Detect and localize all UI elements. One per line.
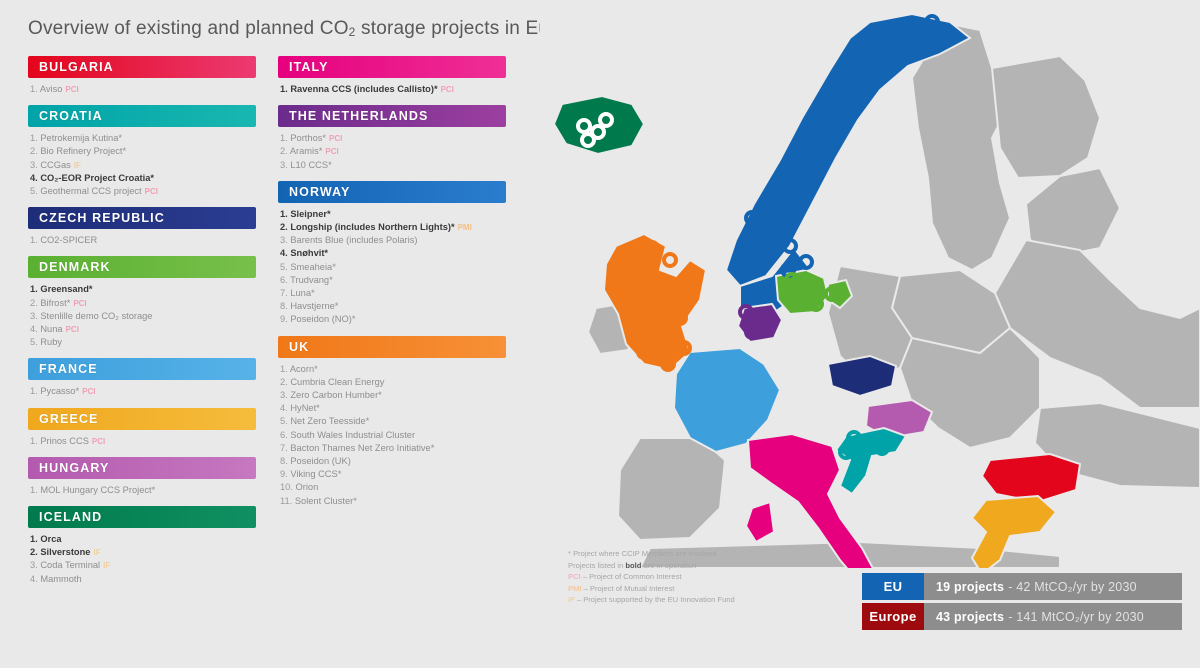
project-number: 2. xyxy=(280,377,290,387)
project-number: 2. xyxy=(30,146,40,156)
project-label: Geothermal CCS project xyxy=(40,186,141,196)
project-number: 1. xyxy=(30,84,40,94)
project-item[interactable]: 4. HyNet* xyxy=(280,402,506,415)
project-number: 2. xyxy=(30,298,40,308)
legend-line-pci: PCI – Project of Common Interest xyxy=(568,571,735,583)
country-header-norway[interactable]: NORWAY xyxy=(278,181,506,203)
project-number: 9. xyxy=(280,469,290,479)
project-number: 7. xyxy=(280,443,290,453)
project-item[interactable]: 1. Acorn* xyxy=(280,363,506,376)
project-item[interactable]: 6. Trudvang* xyxy=(280,274,506,287)
project-label: Trudvang* xyxy=(290,275,333,285)
project-number: 1. xyxy=(30,235,40,245)
project-item[interactable]: 1. Petrokemija Kutina* xyxy=(30,132,256,145)
project-label: Orion xyxy=(296,482,319,492)
country-name-label: ITALY xyxy=(289,60,329,74)
project-label: Solent Cluster* xyxy=(295,496,357,506)
project-item[interactable]: 1. Sleipner* xyxy=(280,208,506,221)
legend-bold-pre: Projects listed in xyxy=(568,561,625,570)
country-name-label: NORWAY xyxy=(289,185,350,199)
project-item[interactable]: 9. Viking CCS* xyxy=(280,468,506,481)
project-label: Barents Blue (includes Polaris) xyxy=(290,235,417,245)
country-block-hungary: HUNGARY1. MOL Hungary CCS Project* xyxy=(28,457,256,497)
stat-key-label: Europe xyxy=(862,603,924,630)
project-tag-if: IF xyxy=(74,161,81,170)
project-tag-if: IF xyxy=(93,548,100,557)
country-header-uk[interactable]: UK xyxy=(278,336,506,358)
project-item[interactable]: 2. Aramis*PCI xyxy=(280,145,506,158)
project-label: Ruby xyxy=(40,337,62,347)
project-number: 2. xyxy=(280,146,290,156)
project-tag-pci: PCI xyxy=(65,85,78,94)
page-title-subscript: 2 xyxy=(349,25,356,39)
project-label: Poseidon (UK) xyxy=(290,456,350,466)
project-item[interactable]: 8. Havstjerne* xyxy=(280,300,506,313)
legend-line-if: IF – Project supported by the EU Innovat… xyxy=(568,594,735,606)
project-list-hungary: 1. MOL Hungary CCS Project* xyxy=(28,484,256,497)
country-block-greece: GREECE1. Prinos CCSPCI xyxy=(28,408,256,448)
stat-detail: - 42 MtCO₂/yr by 2030 xyxy=(1008,580,1137,594)
project-list-iceland: 1. Orca2. SilverstoneIF3. Coda TerminalI… xyxy=(28,533,256,586)
project-item[interactable]: 10. Orion xyxy=(280,481,506,494)
project-item[interactable]: 3. Zero Carbon Humber* xyxy=(280,389,506,402)
project-number: 7. xyxy=(280,288,290,298)
project-number: 6. xyxy=(280,430,290,440)
project-number: 9. xyxy=(280,314,290,324)
project-item[interactable]: 2. Bio Refinery Project* xyxy=(30,145,256,158)
project-tag-pci: PCI xyxy=(92,437,105,446)
page-title-main: Overview of existing and planned CO xyxy=(28,18,349,39)
legend-line-members: * Project where CCIP Members are involve… xyxy=(568,548,735,560)
project-label: Petrokemija Kutina* xyxy=(40,133,122,143)
stat-row-eu: EU19 projects - 42 MtCO₂/yr by 2030 xyxy=(862,573,1182,600)
project-item[interactable]: 1. Porthos*PCI xyxy=(280,132,506,145)
project-item[interactable]: 4. Snøhvit* xyxy=(280,247,506,260)
country-name-label: DENMARK xyxy=(39,260,111,274)
project-list-the-netherlands: 1. Porthos*PCI2. Aramis*PCI3. L10 CCS* xyxy=(278,132,506,172)
project-number: 3. xyxy=(280,390,290,400)
country-column-left: BULGARIA1. AvisoPCICROATIA1. Petrokemija… xyxy=(28,56,256,595)
project-number: 1. xyxy=(30,133,40,143)
project-tag-if: IF xyxy=(103,561,110,570)
project-item[interactable]: 3. CCGasIF xyxy=(30,159,256,172)
project-item[interactable]: 5. Geothermal CCS projectPCI xyxy=(30,185,256,198)
country-block-uk: UK1. Acorn*2. Cumbria Clean Energy3. Zer… xyxy=(278,336,506,508)
project-item[interactable]: 7. Bacton Thames Net Zero Initiative* xyxy=(280,442,506,455)
project-item[interactable]: 5. Ruby xyxy=(30,336,256,349)
project-number: 5. xyxy=(280,416,290,426)
stat-value: 19 projects - 42 MtCO₂/yr by 2030 xyxy=(924,573,1182,600)
project-number: 1. xyxy=(30,284,40,294)
country-header-france[interactable]: FRANCE xyxy=(28,358,256,380)
project-label: Net Zero Teesside* xyxy=(290,416,369,426)
project-number: 5. xyxy=(30,186,40,196)
legend-key-pci: PCI xyxy=(568,572,581,581)
project-item[interactable]: 4. Mammoth xyxy=(30,573,256,586)
legend-key-if: IF xyxy=(568,595,575,604)
project-number: 4. xyxy=(280,248,290,258)
project-item[interactable]: 2. Bifrost*PCI xyxy=(30,297,256,310)
project-item[interactable]: 1. Orca xyxy=(30,533,256,546)
project-label: MOL Hungary CCS Project* xyxy=(40,485,155,495)
stat-row-europe: Europe43 projects - 141 MtCO₂/yr by 2030 xyxy=(862,603,1182,630)
country-block-norway: NORWAY1. Sleipner*2. Longship (includes … xyxy=(278,181,506,327)
legend-text-pmi: – Project of Mutual Interest xyxy=(582,584,675,593)
europe-map[interactable] xyxy=(540,8,1200,568)
project-label: Orca xyxy=(40,534,61,544)
infographic-page: Overview of existing and planned CO2 sto… xyxy=(0,0,1200,668)
stat-count: 43 projects xyxy=(936,610,1004,624)
project-number: 1. xyxy=(30,386,40,396)
project-number: 3. xyxy=(30,560,40,570)
summary-stats: EU19 projects - 42 MtCO₂/yr by 2030Europ… xyxy=(862,573,1182,633)
project-number: 5. xyxy=(30,337,40,347)
project-list-croatia: 1. Petrokemija Kutina*2. Bio Refinery Pr… xyxy=(28,132,256,198)
project-label: Coda Terminal xyxy=(40,560,100,570)
project-item[interactable]: 3. Stenlille demo CO₂ storage xyxy=(30,310,256,323)
legend-line-bold: Projects listed in bold are in operation xyxy=(568,560,735,572)
country-block-italy: ITALY1. Ravenna CCS (includes Callisto)*… xyxy=(278,56,506,96)
project-label: Silverstone xyxy=(40,547,90,557)
stat-value: 43 projects - 141 MtCO₂/yr by 2030 xyxy=(924,603,1182,630)
project-label: Sleipner* xyxy=(290,209,330,219)
project-label: Porthos* xyxy=(290,133,326,143)
project-item[interactable]: 8. Poseidon (UK) xyxy=(280,455,506,468)
project-item[interactable]: 3. L10 CCS* xyxy=(280,159,506,172)
project-number: 6. xyxy=(280,275,290,285)
project-list-uk: 1. Acorn*2. Cumbria Clean Energy3. Zero … xyxy=(278,363,506,508)
country-column-middle: ITALY1. Ravenna CCS (includes Callisto)*… xyxy=(278,56,506,517)
project-label: Bifrost* xyxy=(40,298,70,308)
project-item[interactable]: 7. Luna* xyxy=(280,287,506,300)
project-label: Prinos CCS xyxy=(40,436,89,446)
page-title: Overview of existing and planned CO2 sto… xyxy=(28,18,588,40)
legend-line-pmi: PMI – Project of Mutual Interest xyxy=(568,583,735,595)
legend-bold-post: are in operation xyxy=(641,561,696,570)
project-number: 1. xyxy=(280,209,290,219)
country-block-bulgaria: BULGARIA1. AvisoPCI xyxy=(28,56,256,96)
project-label: Nuna xyxy=(40,324,62,334)
project-item[interactable]: 1. Prinos CCSPCI xyxy=(30,435,256,448)
project-label: Luna* xyxy=(290,288,314,298)
project-list-bulgaria: 1. AvisoPCI xyxy=(28,83,256,96)
country-header-czech-republic[interactable]: CZECH REPUBLIC xyxy=(28,207,256,229)
country-header-bulgaria[interactable]: BULGARIA xyxy=(28,56,256,78)
project-label: Ravenna CCS (includes Callisto)* xyxy=(290,84,437,94)
project-list-france: 1. Pycasso*PCI xyxy=(28,385,256,398)
project-label: Stenlille demo CO₂ storage xyxy=(40,311,152,321)
stat-key-label: EU xyxy=(862,573,924,600)
project-item[interactable]: 11. Solent Cluster* xyxy=(280,495,506,508)
country-name-label: HUNGARY xyxy=(39,461,109,475)
country-block-czech-republic: CZECH REPUBLIC1. CO2-SPICER xyxy=(28,207,256,247)
project-label: CCGas xyxy=(40,160,70,170)
country-block-denmark: DENMARK1. Greensand*2. Bifrost*PCI3. Ste… xyxy=(28,256,256,349)
project-label: CO₂-EOR Project Croatia* xyxy=(40,173,154,183)
country-name-label: FRANCE xyxy=(39,362,98,376)
project-tag-pci: PCI xyxy=(145,187,158,196)
country-name-label: THE NETHERLANDS xyxy=(289,109,428,123)
project-item[interactable]: 1. AvisoPCI xyxy=(30,83,256,96)
project-label: Aviso xyxy=(40,84,63,94)
project-item[interactable]: 4. NunaPCI xyxy=(30,323,256,336)
project-label: South Wales Industrial Cluster xyxy=(290,430,415,440)
country-header-the-netherlands[interactable]: THE NETHERLANDS xyxy=(278,105,506,127)
project-number: 4. xyxy=(30,173,40,183)
country-block-france: FRANCE1. Pycasso*PCI xyxy=(28,358,256,398)
project-number: 1. xyxy=(280,133,290,143)
legend-text-pci: – Project of Common Interest xyxy=(581,572,682,581)
project-item[interactable]: 3. Barents Blue (includes Polaris) xyxy=(280,234,506,247)
project-number: 1. xyxy=(30,485,40,495)
project-list-norway: 1. Sleipner*2. Longship (includes Northe… xyxy=(278,208,506,327)
country-name-label: ICELAND xyxy=(39,510,102,524)
project-label: Aramis* xyxy=(290,146,323,156)
project-item[interactable]: 5. Smeaheia* xyxy=(280,261,506,274)
project-item[interactable]: 1. Pycasso*PCI xyxy=(30,385,256,398)
project-number: 4. xyxy=(30,574,40,584)
project-item[interactable]: 3. Coda TerminalIF xyxy=(30,559,256,572)
country-header-iceland[interactable]: ICELAND xyxy=(28,506,256,528)
project-label: Havstjerne* xyxy=(290,301,338,311)
project-item[interactable]: 5. Net Zero Teesside* xyxy=(280,415,506,428)
country-block-iceland: ICELAND1. Orca2. SilverstoneIF3. Coda Te… xyxy=(28,506,256,586)
project-number: 8. xyxy=(280,456,290,466)
project-item[interactable]: 1. CO2-SPICER xyxy=(30,234,256,247)
project-number: 2. xyxy=(30,547,40,557)
project-number: 1. xyxy=(280,364,290,374)
stat-count: 19 projects xyxy=(936,580,1004,594)
project-tag-pci: PCI xyxy=(441,85,454,94)
project-tag-pci: PCI xyxy=(82,387,95,396)
project-number: 4. xyxy=(280,403,290,413)
project-label: Pycasso* xyxy=(40,386,79,396)
project-number: 11. xyxy=(280,496,295,506)
country-header-italy[interactable]: ITALY xyxy=(278,56,506,78)
project-list-denmark: 1. Greensand*2. Bifrost*PCI3. Stenlille … xyxy=(28,283,256,349)
project-label: Viking CCS* xyxy=(290,469,341,479)
project-item[interactable]: 9. Poseidon (NO)* xyxy=(280,313,506,326)
project-item[interactable]: 1. Greensand* xyxy=(30,283,256,296)
project-number: 3. xyxy=(280,160,290,170)
project-number: 1. xyxy=(30,436,40,446)
project-item[interactable]: 6. South Wales Industrial Cluster xyxy=(280,429,506,442)
project-tag-pmi: PMI xyxy=(458,223,472,232)
map-svg xyxy=(540,8,1200,568)
country-name-label: GREECE xyxy=(39,412,98,426)
project-item[interactable]: 2. Longship (includes Northern Lights)*P… xyxy=(280,221,506,234)
project-label: HyNet* xyxy=(290,403,319,413)
project-label: Poseidon (NO)* xyxy=(290,314,355,324)
country-header-denmark[interactable]: DENMARK xyxy=(28,256,256,278)
project-label: Mammoth xyxy=(40,574,81,584)
project-label: Bio Refinery Project* xyxy=(40,146,126,156)
country-header-greece[interactable]: GREECE xyxy=(28,408,256,430)
project-list-greece: 1. Prinos CCSPCI xyxy=(28,435,256,448)
legend-bold-word: bold xyxy=(625,561,641,570)
map-legend: * Project where CCIP Members are involve… xyxy=(568,548,735,606)
project-label: Snøhvit* xyxy=(290,248,328,258)
project-tag-pci: PCI xyxy=(66,325,79,334)
project-label: Longship (includes Northern Lights)* xyxy=(290,222,454,232)
project-number: 8. xyxy=(280,301,290,311)
project-tag-pci: PCI xyxy=(73,299,86,308)
project-number: 3. xyxy=(30,311,40,321)
legend-text-if: – Project supported by the EU Innovation… xyxy=(575,595,735,604)
stat-detail: - 141 MtCO₂/yr by 2030 xyxy=(1008,610,1144,624)
country-name-label: CZECH REPUBLIC xyxy=(39,211,165,225)
project-item[interactable]: 1. Ravenna CCS (includes Callisto)*PCI xyxy=(280,83,506,96)
project-number: 1. xyxy=(280,84,290,94)
project-tag-pci: PCI xyxy=(329,134,342,143)
project-label: Cumbria Clean Energy xyxy=(290,377,384,387)
project-label: Greensand* xyxy=(40,284,92,294)
legend-key-pmi: PMI xyxy=(568,584,582,593)
project-label: L10 CCS* xyxy=(290,160,331,170)
project-number: 4. xyxy=(30,324,40,334)
country-block-croatia: CROATIA1. Petrokemija Kutina*2. Bio Refi… xyxy=(28,105,256,198)
project-number: 10. xyxy=(280,482,296,492)
project-label: Zero Carbon Humber* xyxy=(290,390,381,400)
project-number: 3. xyxy=(30,160,40,170)
project-list-czech-republic: 1. CO2-SPICER xyxy=(28,234,256,247)
project-number: 2. xyxy=(280,222,290,232)
project-label: Bacton Thames Net Zero Initiative* xyxy=(290,443,434,453)
project-list-italy: 1. Ravenna CCS (includes Callisto)*PCI xyxy=(278,83,506,96)
project-item[interactable]: 4. CO₂-EOR Project Croatia* xyxy=(30,172,256,185)
country-header-croatia[interactable]: CROATIA xyxy=(28,105,256,127)
project-tag-pci: PCI xyxy=(325,147,338,156)
country-block-the-netherlands: THE NETHERLANDS1. Porthos*PCI2. Aramis*P… xyxy=(278,105,506,172)
country-name-label: CROATIA xyxy=(39,109,103,123)
project-item[interactable]: 2. Cumbria Clean Energy xyxy=(280,376,506,389)
project-number: 1. xyxy=(30,534,40,544)
country-header-hungary[interactable]: HUNGARY xyxy=(28,457,256,479)
project-number: 3. xyxy=(280,235,290,245)
project-item[interactable]: 2. SilverstoneIF xyxy=(30,546,256,559)
project-label: Acorn* xyxy=(290,364,318,374)
project-item[interactable]: 1. MOL Hungary CCS Project* xyxy=(30,484,256,497)
country-name-label: UK xyxy=(289,340,309,354)
country-name-label: BULGARIA xyxy=(39,60,114,74)
project-label: CO2-SPICER xyxy=(40,235,97,245)
project-label: Smeaheia* xyxy=(290,262,335,272)
project-number: 5. xyxy=(280,262,290,272)
